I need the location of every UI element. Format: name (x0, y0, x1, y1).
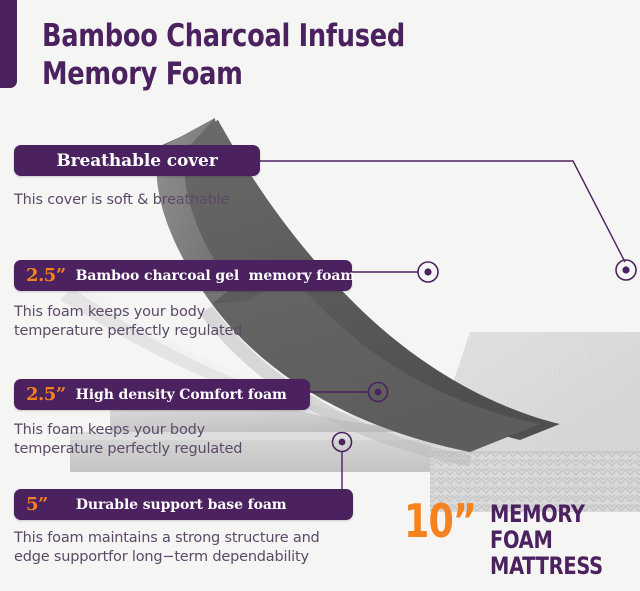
callout-pill-cover[interactable]: Breathable cover (14, 145, 260, 176)
callout-thickness-bamboo: 2.5” (26, 265, 66, 286)
callout-label-cover: Breathable cover (56, 151, 217, 171)
callout-label-base: Durable support base foam (76, 497, 287, 513)
connector-cover (260, 161, 625, 262)
callout-pill-bamboo[interactable]: 2.5” Bamboo charcoal gel memory foam (14, 260, 352, 291)
dot-marker-base (333, 433, 352, 452)
callout-desc-base: This foam maintains a strong structure a… (14, 529, 384, 567)
dot-marker-comfort (369, 383, 388, 402)
callout-pill-comfort[interactable]: 2.5” High density Comfort foam (14, 379, 310, 410)
callout-thickness-comfort: 2.5” (26, 384, 66, 405)
badge-size-value: 10” (404, 500, 476, 542)
page-title: Bamboo Charcoal Infused Memory Foam (42, 18, 520, 94)
dot-marker-cover (616, 260, 636, 280)
accent-bar (0, 0, 17, 88)
callout-desc-bamboo: This foam keeps your body temperature pe… (14, 303, 324, 341)
callout-label-bamboo: Bamboo charcoal gel memory foam (76, 268, 355, 284)
callout-pill-base[interactable]: 5” Durable support base foam (14, 489, 353, 520)
dot-marker-bamboo (418, 262, 438, 282)
callout-thickness-base: 5” (26, 494, 48, 515)
infographic-page: Bamboo Charcoal Infused Memory Foam (0, 0, 640, 591)
badge-words: MEMORY FOAM MATTRESS (490, 502, 625, 580)
callout-desc-comfort: This foam keeps your body temperature pe… (14, 421, 324, 459)
callout-desc-cover: This cover is soft & breathable (14, 191, 314, 210)
callout-label-comfort: High density Comfort foam (76, 387, 287, 403)
mattress-size-badge: 10” MEMORY FOAM MATTRESS (404, 500, 640, 580)
